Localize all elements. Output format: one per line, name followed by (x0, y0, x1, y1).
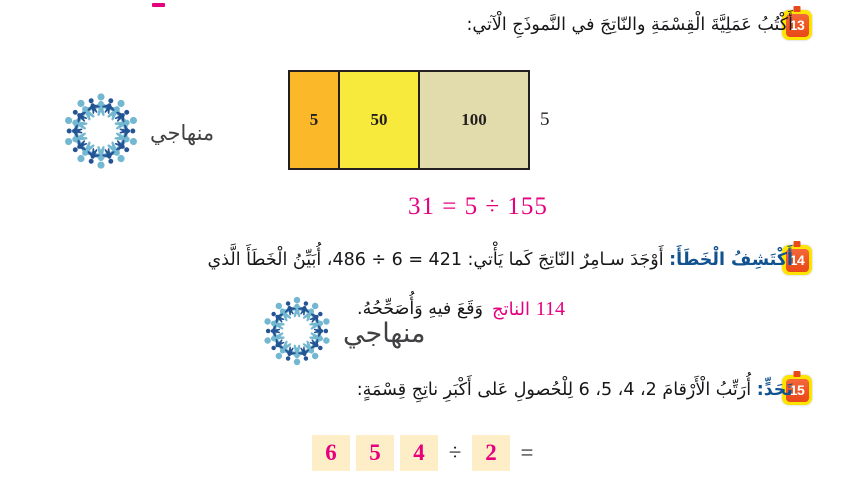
bar-model-group: 5 100 50 5 (288, 70, 550, 170)
answer-box-1[interactable]: 6 (312, 435, 350, 471)
bar-cell-50: 50 (340, 72, 420, 168)
bar-model-divisor-label: 5 (540, 109, 550, 131)
exercise-14-answer-label: الناتج (492, 299, 530, 320)
exercise-14-line1: أَكْتَشِفُ الْخَطَأَ: أَوْجَدَ سـامِرٌ ا… (75, 248, 793, 273)
watermark-logo-small: منهاجي (58, 88, 214, 178)
badge-tab (794, 371, 801, 377)
watermark-text: منهاجي (150, 121, 214, 145)
watermark-text: منهاجي (343, 318, 425, 349)
manhaji-logo-icon (258, 292, 336, 374)
equals-operator: = (516, 440, 538, 466)
answer-box-3[interactable]: 4 (400, 435, 438, 471)
exercise-14-keyword: أَكْتَشِفُ الْخَطَأَ: (669, 250, 793, 270)
exercise-15-line1: تَحَدٍّ: أُرَتِّبُ الْأَرْقامَ 2، 4، 5، … (75, 378, 793, 403)
exercise-14-answer-value: 114 (536, 298, 565, 320)
exercise-15-keyword: تَحَدٍّ: (757, 380, 793, 400)
bar-cell-100: 100 (420, 72, 528, 168)
badge-tab (794, 241, 801, 247)
exercise-14-answer: 114 الناتج (492, 298, 565, 321)
bar-model: 100 50 5 (288, 70, 530, 170)
top-page-mark (152, 3, 165, 7)
answer-box-divisor[interactable]: 2 (472, 435, 510, 471)
exercise-14-prompt-text: أَوْجَدَ سـامِرٌ النّاتِجَ كَما يَأْتي: … (208, 250, 664, 270)
answer-box-2[interactable]: 5 (356, 435, 394, 471)
manhaji-logo-icon (58, 88, 144, 178)
division-operator: ÷ (444, 440, 466, 466)
bar-cell-5: 5 (290, 72, 340, 168)
exercise-15-prompt-text: أُرَتِّبُ الْأَرْقامَ 2، 4، 5، 6 لِلْحُص… (357, 380, 751, 400)
exercise-13-prompt: أَكْتُبُ عَمَلِيَّةَ الْقِسْمَةِ والنّات… (93, 13, 793, 38)
exercise-15-answer-row: 6 5 4 ÷ 2 = (312, 435, 538, 471)
watermark-logo-large: منهاجي (258, 292, 425, 374)
exercise-13-answer: 155 ÷ 5 = 31 (408, 193, 548, 221)
badge-tab (794, 6, 801, 12)
